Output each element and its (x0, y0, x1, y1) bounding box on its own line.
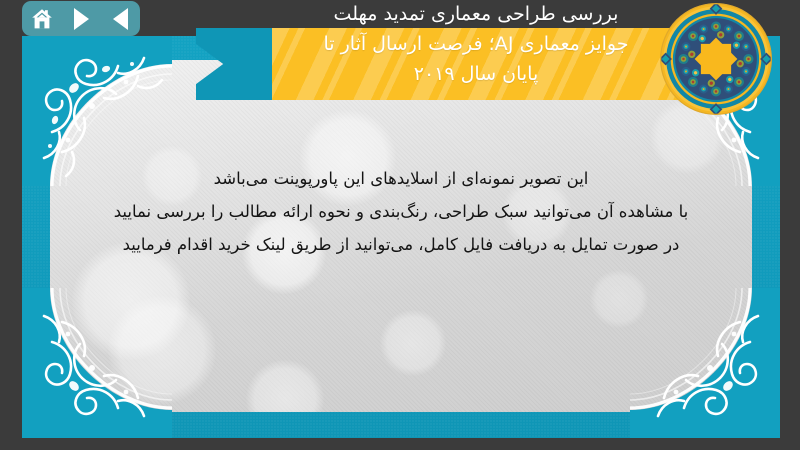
bokeh-circle (246, 360, 324, 412)
back-button[interactable] (105, 5, 135, 33)
home-button[interactable] (27, 5, 57, 33)
banner-notch (196, 0, 278, 30)
body-line-3: در صورت تمایل به دریافت فایل کامل، می‌تو… (50, 228, 752, 261)
triangle-left-icon (113, 8, 128, 30)
triangle-right-icon (74, 8, 89, 30)
bokeh-circle (108, 296, 216, 404)
navigation-toolbar[interactable] (22, 1, 140, 36)
slide-canvas: این تصویر نمونه‌ای از اسلایدهای این پاور… (22, 36, 780, 438)
slide-body-text: این تصویر نمونه‌ای از اسلایدهای این پاور… (50, 162, 752, 261)
bokeh-circle (590, 270, 648, 328)
body-line-2: با مشاهده آن می‌توانید سبک طراحی، رنگ‌بن… (50, 195, 752, 228)
home-icon (30, 8, 54, 30)
bokeh-circle (380, 310, 446, 376)
forward-button[interactable] (66, 5, 96, 33)
persian-medallion-icon (660, 3, 772, 115)
body-line-1: این تصویر نمونه‌ای از اسلایدهای این پاور… (50, 162, 752, 195)
title-line-1: بررسی طراحی معماری تمدید مهلت (276, 0, 676, 29)
